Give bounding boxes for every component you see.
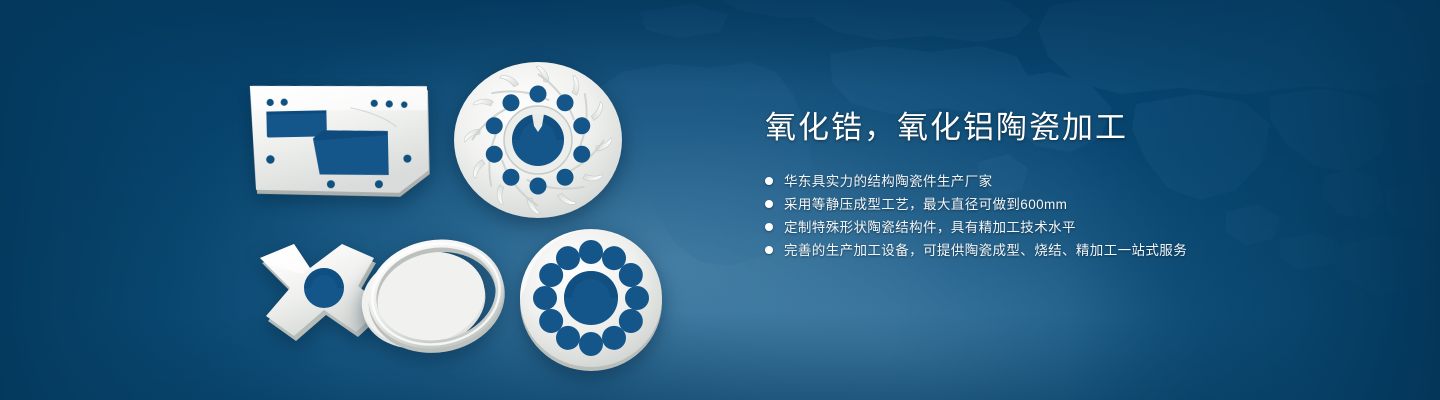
banner-copy: 氧化锆，氧化铝陶瓷加工 华东具实力的结构陶瓷件生产厂家 采用等静压成型工艺，最大… <box>765 108 1385 262</box>
bullet-dot-icon <box>765 223 773 231</box>
feature-list: 华东具实力的结构陶瓷件生产厂家 采用等静压成型工艺，最大直径可做到600mm 定… <box>765 170 1385 262</box>
list-item: 采用等静压成型工艺，最大直径可做到600mm <box>765 193 1385 216</box>
feature-text: 完善的生产加工设备，可提供陶瓷成型、烧结、精加工一站式服务 <box>784 239 1187 262</box>
bullet-dot-icon <box>765 177 773 185</box>
list-item: 完善的生产加工设备，可提供陶瓷成型、烧结、精加工一站式服务 <box>765 239 1385 262</box>
feature-text: 采用等静压成型工艺，最大直径可做到600mm <box>784 193 1067 216</box>
ceramic-ring-image <box>352 228 514 358</box>
ceramic-flange-disc-image <box>516 226 666 372</box>
list-item: 华东具实力的结构陶瓷件生产厂家 <box>765 170 1385 193</box>
list-item: 定制特殊形状陶瓷结构件，具有精加工技术水平 <box>765 216 1385 239</box>
feature-text: 定制特殊形状陶瓷结构件，具有精加工技术水平 <box>784 216 1076 239</box>
bullet-dot-icon <box>765 200 773 208</box>
ceramic-plate-image <box>246 76 439 205</box>
feature-text: 华东具实力的结构陶瓷件生产厂家 <box>784 170 993 193</box>
headline: 氧化锆，氧化铝陶瓷加工 <box>765 108 1385 148</box>
product-photo-group <box>0 0 740 400</box>
bullet-dot-icon <box>765 246 773 254</box>
promo-banner: 氧化锆，氧化铝陶瓷加工 华东具实力的结构陶瓷件生产厂家 采用等静压成型工艺，最大… <box>0 0 1440 400</box>
ceramic-impeller-image <box>448 52 628 222</box>
